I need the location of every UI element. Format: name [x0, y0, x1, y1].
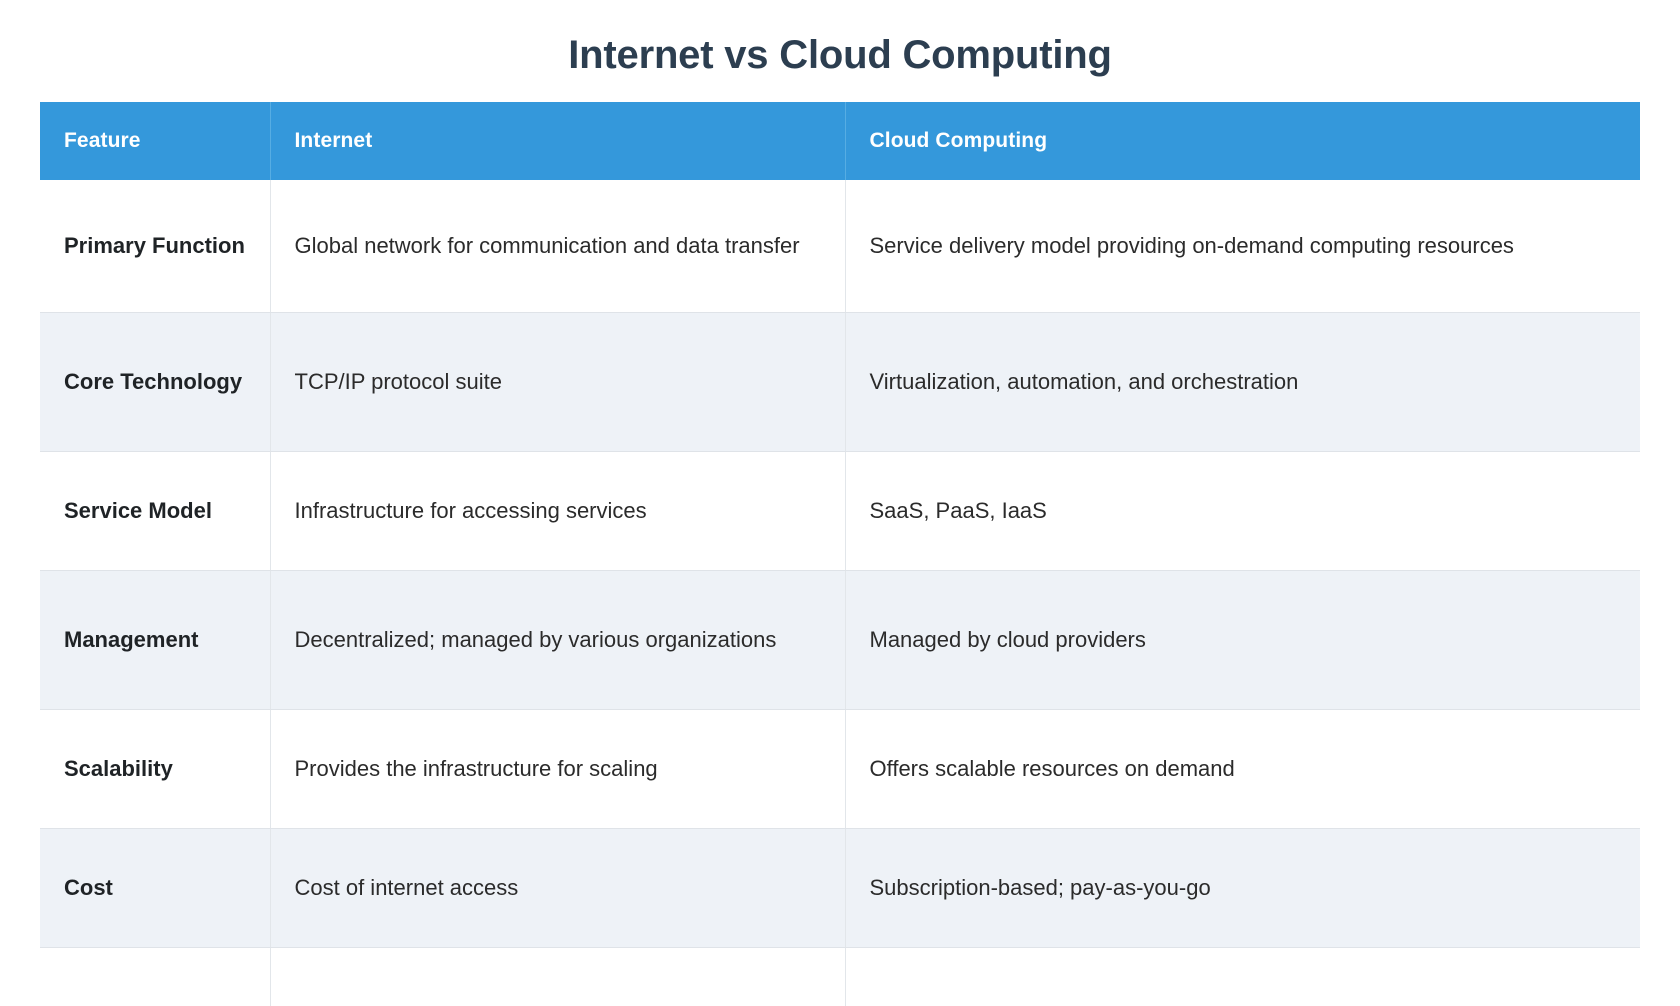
cell-internet: TCP/IP protocol suite	[270, 313, 845, 452]
cell-feature: Security	[40, 948, 270, 1006]
cell-feature: Core Technology	[40, 313, 270, 452]
comparison-table: Feature Internet Cloud Computing Primary…	[40, 102, 1640, 1006]
page-root: Internet vs Cloud Computing Feature Inte…	[0, 0, 1680, 1006]
table-body: Primary Function Global network for comm…	[40, 180, 1640, 1006]
table-row: Cost Cost of internet access Subscriptio…	[40, 829, 1640, 948]
cell-internet: Cost of internet access	[270, 829, 845, 948]
comparison-table-container: Feature Internet Cloud Computing Primary…	[40, 80, 1640, 1006]
table-row: Service Model Infrastructure for accessi…	[40, 452, 1640, 571]
column-header-feature: Feature	[40, 102, 270, 180]
cell-cloud: Managed by cloud providers	[845, 571, 1640, 710]
table-row: Security Relies on end-to-end security m…	[40, 948, 1640, 1006]
cell-feature: Management	[40, 571, 270, 710]
cell-cloud: Offers scalable resources on demand	[845, 710, 1640, 829]
cell-internet: Infrastructure for accessing services	[270, 452, 845, 571]
cell-feature: Primary Function	[40, 180, 270, 313]
cell-cloud: Cloud providers handle security, but use…	[845, 948, 1640, 1006]
table-header-row: Feature Internet Cloud Computing	[40, 102, 1640, 180]
cell-internet: Decentralized; managed by various organi…	[270, 571, 845, 710]
column-header-cloud-computing: Cloud Computing	[845, 102, 1640, 180]
table-header: Feature Internet Cloud Computing	[40, 102, 1640, 180]
cell-cloud: Service delivery model providing on-dema…	[845, 180, 1640, 313]
cell-cloud: SaaS, PaaS, IaaS	[845, 452, 1640, 571]
cell-internet: Relies on end-to-end security measures	[270, 948, 845, 1006]
table-row: Management Decentralized; managed by var…	[40, 571, 1640, 710]
cell-feature: Service Model	[40, 452, 270, 571]
table-row: Core Technology TCP/IP protocol suite Vi…	[40, 313, 1640, 452]
table-row: Primary Function Global network for comm…	[40, 180, 1640, 313]
page-title: Internet vs Cloud Computing	[0, 0, 1680, 80]
cell-feature: Cost	[40, 829, 270, 948]
cell-internet: Provides the infrastructure for scaling	[270, 710, 845, 829]
column-header-internet: Internet	[270, 102, 845, 180]
cell-internet: Global network for communication and dat…	[270, 180, 845, 313]
cell-feature: Scalability	[40, 710, 270, 829]
cell-cloud: Virtualization, automation, and orchestr…	[845, 313, 1640, 452]
cell-cloud: Subscription-based; pay-as-you-go	[845, 829, 1640, 948]
table-row: Scalability Provides the infrastructure …	[40, 710, 1640, 829]
